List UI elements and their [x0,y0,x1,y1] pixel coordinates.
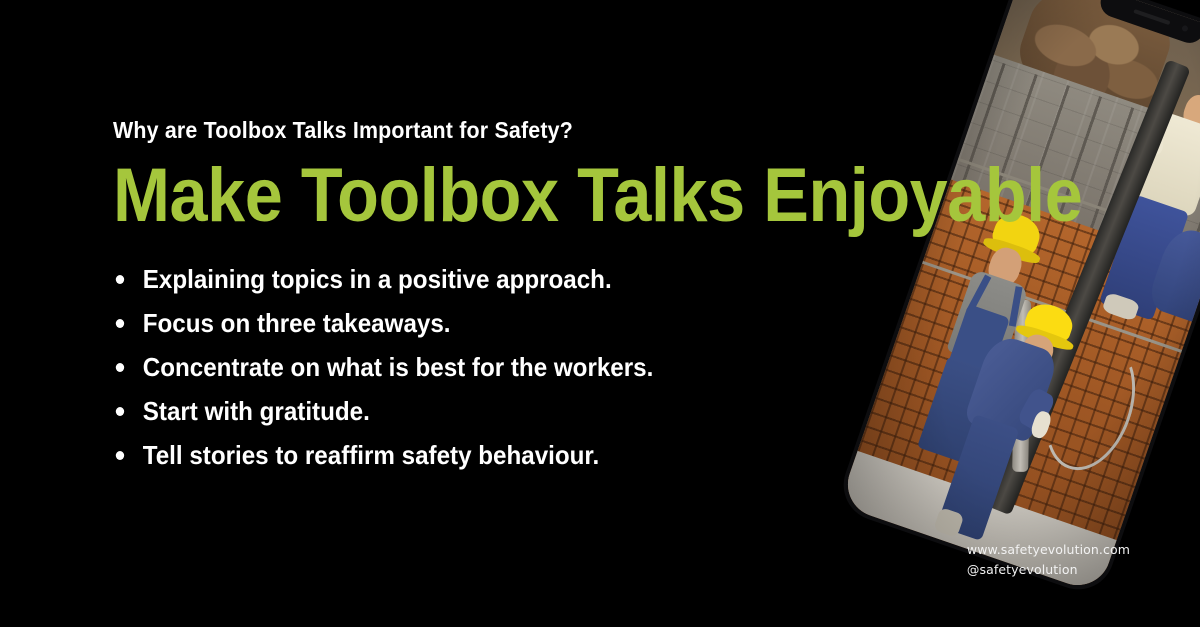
earpiece-speaker-icon [1133,9,1170,25]
list-item: Explaining topics in a positive approach… [113,266,848,292]
bullet-dot-icon [116,275,124,284]
list-item: Tell stories to reaffirm safety behaviou… [113,442,848,468]
list-item-label: Concentrate on what is best for the work… [143,352,654,382]
list-item: Start with gratitude. [113,398,848,424]
bullet-dot-icon [116,407,124,416]
list-item: Focus on three takeaways. [113,310,848,336]
list-item-label: Focus on three takeaways. [143,308,451,338]
bullet-list: Explaining topics in a positive approach… [113,266,903,468]
list-item-label: Start with gratitude. [143,396,370,426]
social-handle[interactable]: @safetyevolution [967,560,1130,579]
list-item-label: Explaining topics in a positive approach… [143,264,612,294]
bullet-dot-icon [116,363,124,372]
bullet-dot-icon [116,319,124,328]
website-url[interactable]: www.safetyevolution.com [967,540,1130,559]
bullet-dot-icon [116,451,124,460]
list-item: Concentrate on what is best for the work… [113,354,848,380]
poster-canvas: Why are Toolbox Talks Important for Safe… [0,0,1200,627]
front-camera-icon [1181,25,1189,33]
page-title: Make Toolbox Talks Enjoyable [113,159,824,233]
text-column: Why are Toolbox Talks Important for Safe… [113,118,903,486]
footer-credits: www.safetyevolution.com @safetyevolution [967,540,1130,579]
list-item-label: Tell stories to reaffirm safety behaviou… [143,440,599,470]
eyebrow-question: Why are Toolbox Talks Important for Safe… [113,118,848,143]
